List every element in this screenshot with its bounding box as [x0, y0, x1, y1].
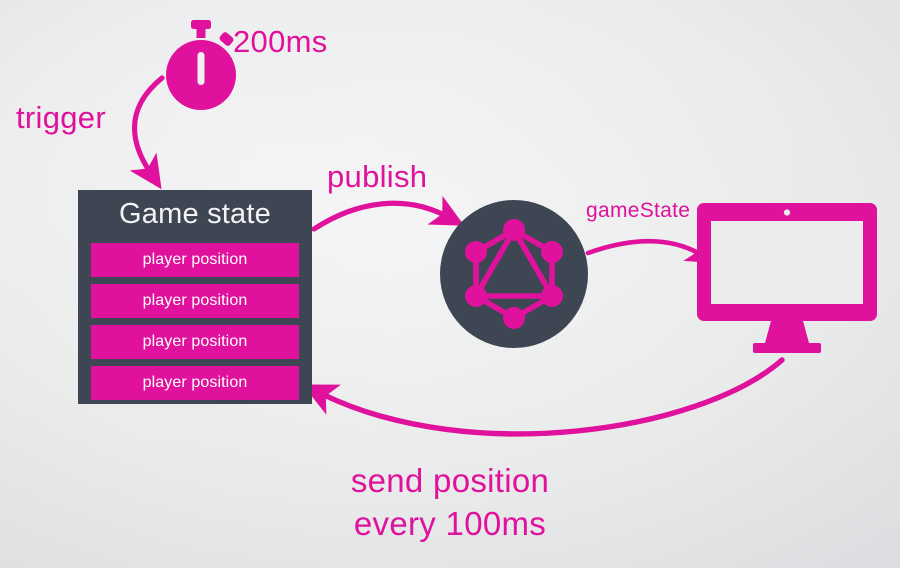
arrow-send-position — [322, 360, 782, 434]
arrow-publish — [314, 203, 446, 229]
graphql-server-node — [440, 200, 588, 348]
player-position-row: player position — [91, 325, 299, 359]
trigger-label: trigger — [16, 100, 106, 136]
publish-label: publish — [327, 159, 427, 195]
monitor-icon — [697, 203, 877, 355]
arrow-gamestate — [588, 241, 700, 254]
timer-interval-label: 200ms — [233, 24, 328, 60]
send-position-label-line2: every 100ms — [0, 505, 900, 543]
game-state-panel: Game state player position player positi… — [78, 190, 312, 404]
player-position-row: player position — [91, 284, 299, 318]
gamestate-event-label: gameState — [586, 199, 690, 223]
diagram-canvas: Game state player position player positi… — [0, 0, 900, 568]
player-position-row: player position — [91, 243, 299, 277]
player-position-row: player position — [91, 366, 299, 400]
graphql-logo-icon — [440, 200, 588, 348]
monitor-glyph — [697, 203, 877, 355]
game-state-title: Game state — [78, 194, 312, 234]
send-position-label-line1: send position — [0, 462, 900, 500]
